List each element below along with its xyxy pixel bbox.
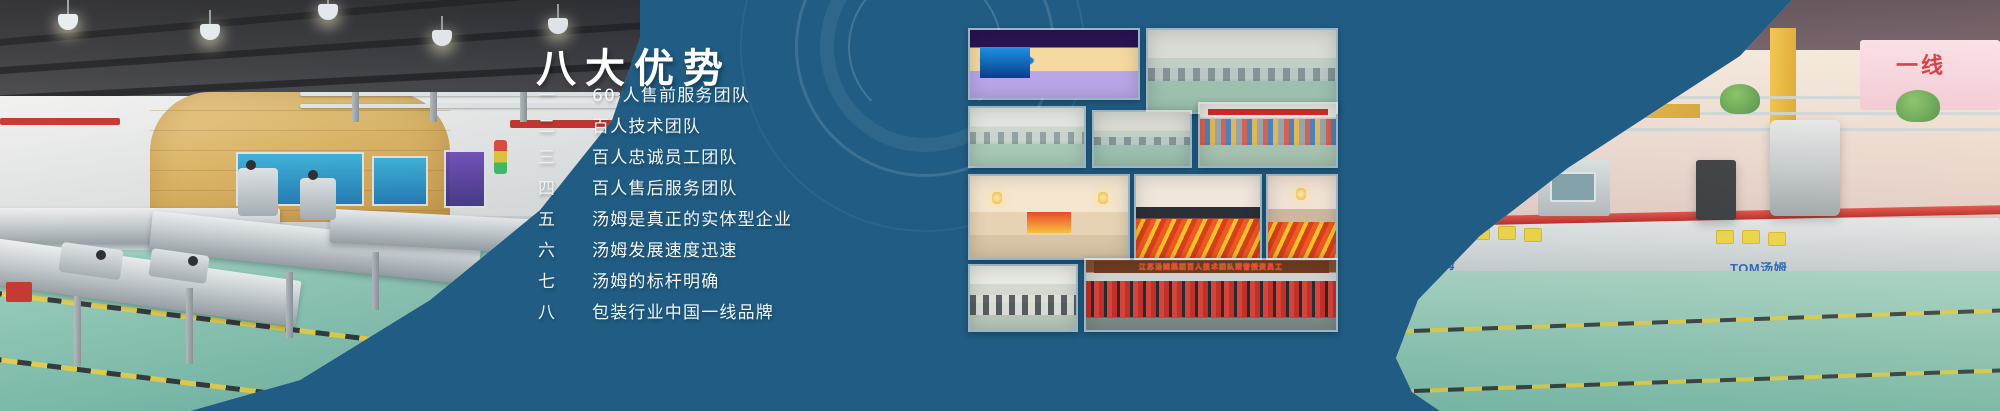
photo-tint <box>1300 0 2000 411</box>
production-floor-photo <box>1092 110 1192 168</box>
company-advantages-banner: 一线 TOM汤姆 TOM汤姆 <box>0 0 2000 411</box>
list-item-label: 汤姆的标杆明确 <box>592 267 719 292</box>
list-item-number: 一 <box>534 81 592 106</box>
list-item: 一 60 人售前服务团队 <box>534 78 964 109</box>
list-item: 五 汤姆是真正的实体型企业 <box>534 202 964 233</box>
office-area-photo <box>968 264 1078 332</box>
list-item-number: 二 <box>534 112 592 137</box>
right-photo-scene: 一线 TOM汤姆 TOM汤姆 <box>1300 0 2000 411</box>
tom-packaging-machine-photo: 一线 TOM汤姆 TOM汤姆 <box>1300 0 2000 411</box>
list-item-label: 百人忠诚员工团队 <box>592 143 738 168</box>
warehouse-photo <box>1198 102 1338 168</box>
list-item-label: 60 人售前服务团队 <box>592 81 750 106</box>
conference-room-b-photo <box>1266 174 1338 260</box>
list-item: 六 汤姆发展速度迅速 <box>534 233 964 264</box>
list-item: 二 百人技术团队 <box>534 109 964 140</box>
list-item-number: 八 <box>534 298 592 323</box>
list-item: 四 百人售后服务团队 <box>534 171 964 202</box>
list-item: 八 包装行业中国一线品牌 <box>534 295 964 326</box>
list-item-number: 六 <box>534 236 592 261</box>
plant <box>1618 78 1664 112</box>
list-item: 七 汤姆的标杆明确 <box>534 264 964 295</box>
showroom-photo <box>968 28 1140 100</box>
lobby-photo <box>968 174 1130 260</box>
photo-collage: 江苏汤姆集团百人技术团队荣誉授资员工 <box>968 28 1338 298</box>
hanging-plant <box>1522 22 1612 48</box>
list-item-number: 五 <box>534 205 592 230</box>
list-item-label: 百人售后服务团队 <box>592 174 738 199</box>
list-item-label: 包装行业中国一线品牌 <box>592 298 774 323</box>
conference-room-a-photo <box>1134 174 1262 260</box>
brand-logo-label: TOM汤姆 <box>1398 254 1455 273</box>
list-item-label: 汤姆发展速度迅速 <box>592 236 738 261</box>
machining-workshop-photo <box>968 106 1086 168</box>
list-item-number: 四 <box>534 174 592 199</box>
list-item-number: 三 <box>534 143 592 168</box>
list-item: 三 百人忠诚员工团队 <box>534 140 964 171</box>
list-item-label: 百人技术团队 <box>592 112 701 137</box>
advantages-list: 一 60 人售前服务团队 二 百人技术团队 三 百人忠诚员工团队 四 百人售后服… <box>534 78 964 326</box>
list-item-label: 汤姆是真正的实体型企业 <box>592 205 792 230</box>
team-group-photo: 江苏汤姆集团百人技术团队荣誉授资员工 <box>1084 258 1338 332</box>
list-item-number: 七 <box>534 267 592 292</box>
